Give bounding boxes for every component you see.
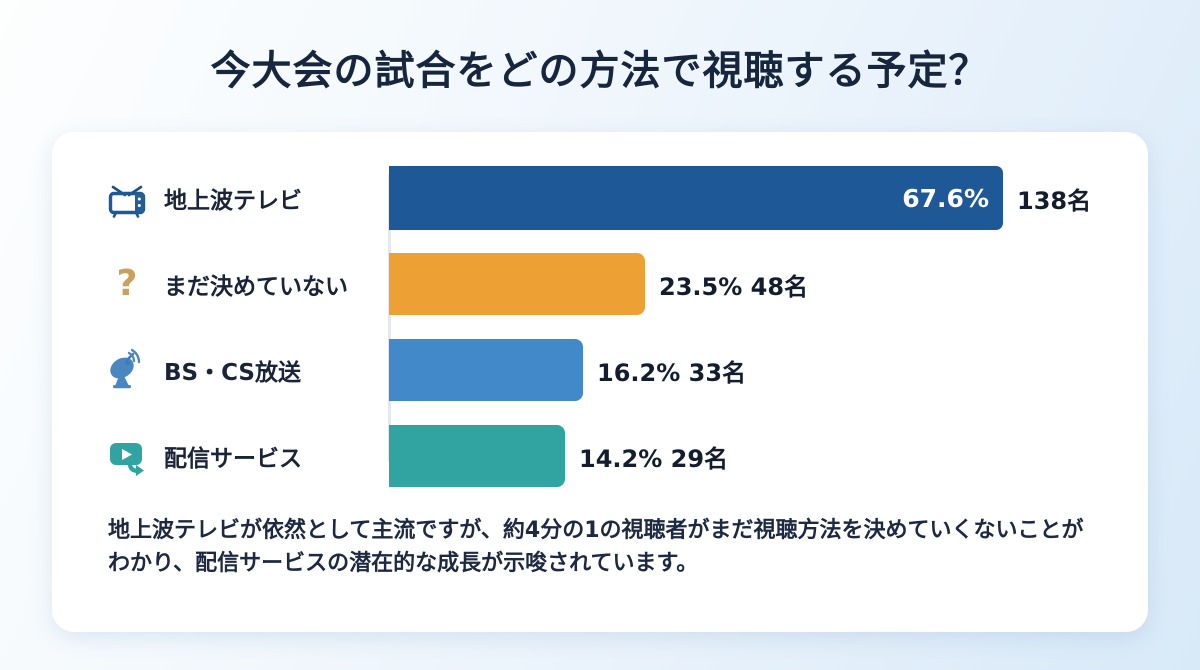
bar-streaming[interactable] [389, 425, 565, 487]
satellite-dish-icon [104, 347, 150, 393]
bar-area: 23.5% 48名 [389, 253, 1148, 315]
bar-percent-label: 67.6% [902, 184, 1003, 213]
chart-row-label: まだ決めていない [164, 267, 348, 301]
chart-row-bscs: BS・CS放送 16.2% 33名 [52, 334, 1148, 406]
page-title: 今大会の試合をどの方法で視聴する予定？ [0, 38, 1200, 96]
chart-row-label: 配信サービス [164, 439, 302, 473]
chart-row-label: BS・CS放送 [164, 353, 301, 387]
question-mark-icon: ? [104, 261, 150, 307]
chart-card: 地上波テレビ 67.6% 138名 ? まだ決めていない [52, 132, 1148, 632]
bar-value-label: 23.5% 48名 [645, 267, 808, 302]
bar-count-label: 138名 [1003, 181, 1091, 216]
streaming-play-share-icon [104, 433, 150, 479]
infographic-page: 今大会の試合をどの方法で視聴する予定？ 地上波テレビ [0, 0, 1200, 670]
bar-value-label: 16.2% 33名 [583, 353, 746, 388]
bar-area: 16.2% 33名 [389, 339, 1148, 401]
chart-row-streaming: 配信サービス 14.2% 29名 [52, 420, 1148, 492]
bar-chart: 地上波テレビ 67.6% 138名 ? まだ決めていない [52, 132, 1148, 492]
chart-row-tv: 地上波テレビ 67.6% 138名 [52, 162, 1148, 234]
bar-area: 14.2% 29名 [389, 425, 1148, 487]
svg-text:?: ? [117, 263, 138, 304]
tv-icon [104, 175, 150, 221]
bar-undecided[interactable] [389, 253, 645, 315]
bar-area: 67.6% 138名 [389, 167, 1148, 229]
chart-caption: 地上波テレビが依然として主流ですが、約4分の1の視聴者がまだ視聴方法を決めていく… [108, 514, 1098, 580]
bar-tv[interactable]: 67.6% [389, 166, 1003, 230]
bar-bscs[interactable] [389, 339, 583, 401]
chart-row-undecided: ? まだ決めていない 23.5% 48名 [52, 248, 1148, 320]
bar-value-label: 14.2% 29名 [565, 439, 728, 474]
chart-row-label: 地上波テレビ [164, 181, 302, 215]
